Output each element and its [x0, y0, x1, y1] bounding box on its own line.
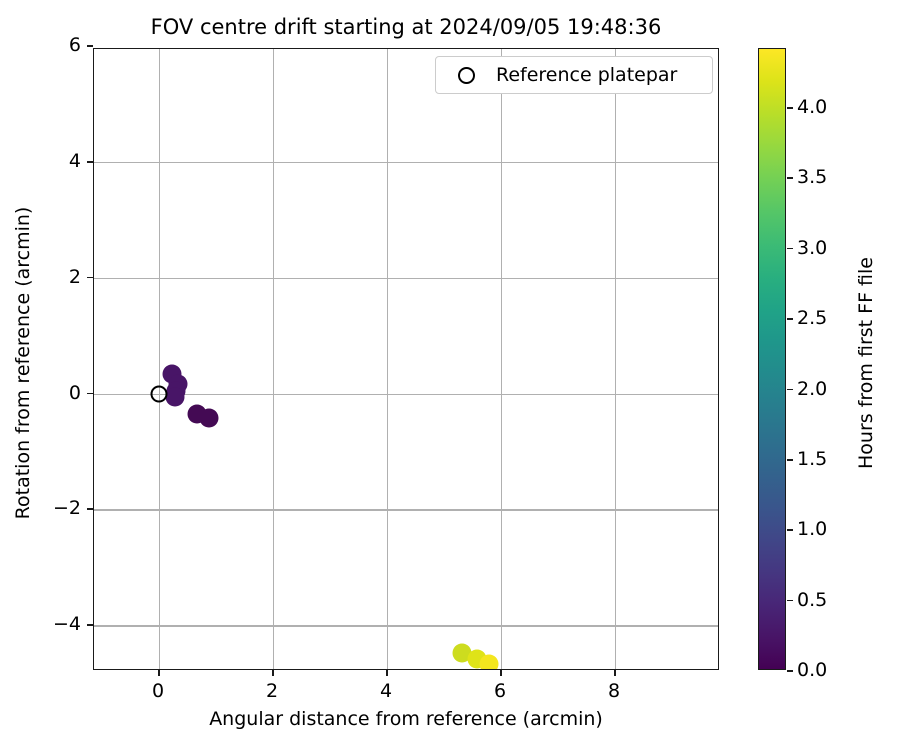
x-tick-label: 0 — [152, 680, 164, 702]
legend-item-label: Reference platepar — [496, 64, 677, 86]
colorbar-tick-label: 0.5 — [797, 589, 827, 611]
colorbar-tick-label: 3.5 — [797, 166, 827, 188]
gridline-horizontal — [94, 509, 718, 510]
y-tick-mark — [87, 45, 93, 47]
colorbar-tick-mark — [787, 177, 793, 179]
open-circle-icon — [458, 67, 475, 84]
y-tick-label: −4 — [7, 613, 81, 635]
x-tick-label: 8 — [608, 680, 620, 702]
x-tick-mark — [500, 670, 502, 676]
colorbar-tick-mark — [787, 248, 793, 250]
gridline-vertical — [501, 49, 502, 669]
x-tick-mark — [158, 670, 160, 676]
colorbar-tick-mark — [787, 389, 793, 391]
colorbar-tick-label: 0.0 — [797, 659, 827, 681]
figure-canvas: FOV centre drift starting at 2024/09/05 … — [0, 0, 900, 750]
colorbar-tick-label: 4.0 — [797, 96, 827, 118]
x-tick-label: 2 — [266, 680, 278, 702]
y-tick-label: 6 — [7, 34, 81, 56]
y-tick-label: −2 — [7, 497, 81, 519]
y-tick-label: 2 — [7, 266, 81, 288]
legend: Reference platepar — [435, 56, 713, 94]
gridline-vertical — [159, 49, 160, 669]
x-tick-label: 4 — [380, 680, 392, 702]
x-tick-mark — [272, 670, 274, 676]
y-tick-label: 4 — [7, 150, 81, 172]
colorbar-tick-mark — [787, 600, 793, 602]
legend-marker-wrap — [436, 67, 496, 84]
colorbar-tick-mark — [787, 670, 793, 672]
x-tick-label: 6 — [494, 680, 506, 702]
colorbar-tick-mark — [787, 318, 793, 320]
gridline-vertical — [615, 49, 616, 669]
data-point[interactable] — [200, 408, 219, 427]
colorbar-label: Hours from first FF file — [855, 52, 877, 674]
gridline-horizontal — [94, 394, 718, 395]
y-tick-mark — [87, 277, 93, 279]
x-tick-mark — [614, 670, 616, 676]
y-tick-mark — [87, 161, 93, 163]
y-tick-label: 0 — [7, 382, 81, 404]
colorbar-tick-label: 2.5 — [797, 307, 827, 329]
data-point[interactable] — [165, 388, 184, 407]
y-axis-label: Rotation from reference (arcmin) — [12, 52, 34, 674]
colorbar-gradient — [759, 49, 785, 669]
page-title: FOV centre drift starting at 2024/09/05 … — [93, 14, 719, 40]
colorbar-tick-label: 2.0 — [797, 378, 827, 400]
gridline-horizontal — [94, 278, 718, 279]
gridline-horizontal — [94, 625, 718, 626]
colorbar-tick-label: 3.0 — [797, 237, 827, 259]
reference-platepar-marker[interactable] — [150, 385, 167, 402]
gridline-vertical — [387, 49, 388, 669]
y-tick-mark — [87, 393, 93, 395]
y-tick-mark — [87, 508, 93, 510]
gridline-horizontal — [94, 162, 718, 163]
colorbar-tick-mark — [787, 459, 793, 461]
x-axis-label: Angular distance from reference (arcmin) — [93, 708, 719, 730]
colorbar[interactable] — [758, 48, 786, 670]
colorbar-tick-label: 1.0 — [797, 518, 827, 540]
colorbar-tick-label: 1.5 — [797, 448, 827, 470]
x-tick-mark — [386, 670, 388, 676]
data-point[interactable] — [480, 655, 499, 670]
y-tick-mark — [87, 624, 93, 626]
plot-area[interactable] — [93, 48, 719, 670]
gridline-vertical — [273, 49, 274, 669]
colorbar-tick-mark — [787, 529, 793, 531]
colorbar-tick-mark — [787, 107, 793, 109]
